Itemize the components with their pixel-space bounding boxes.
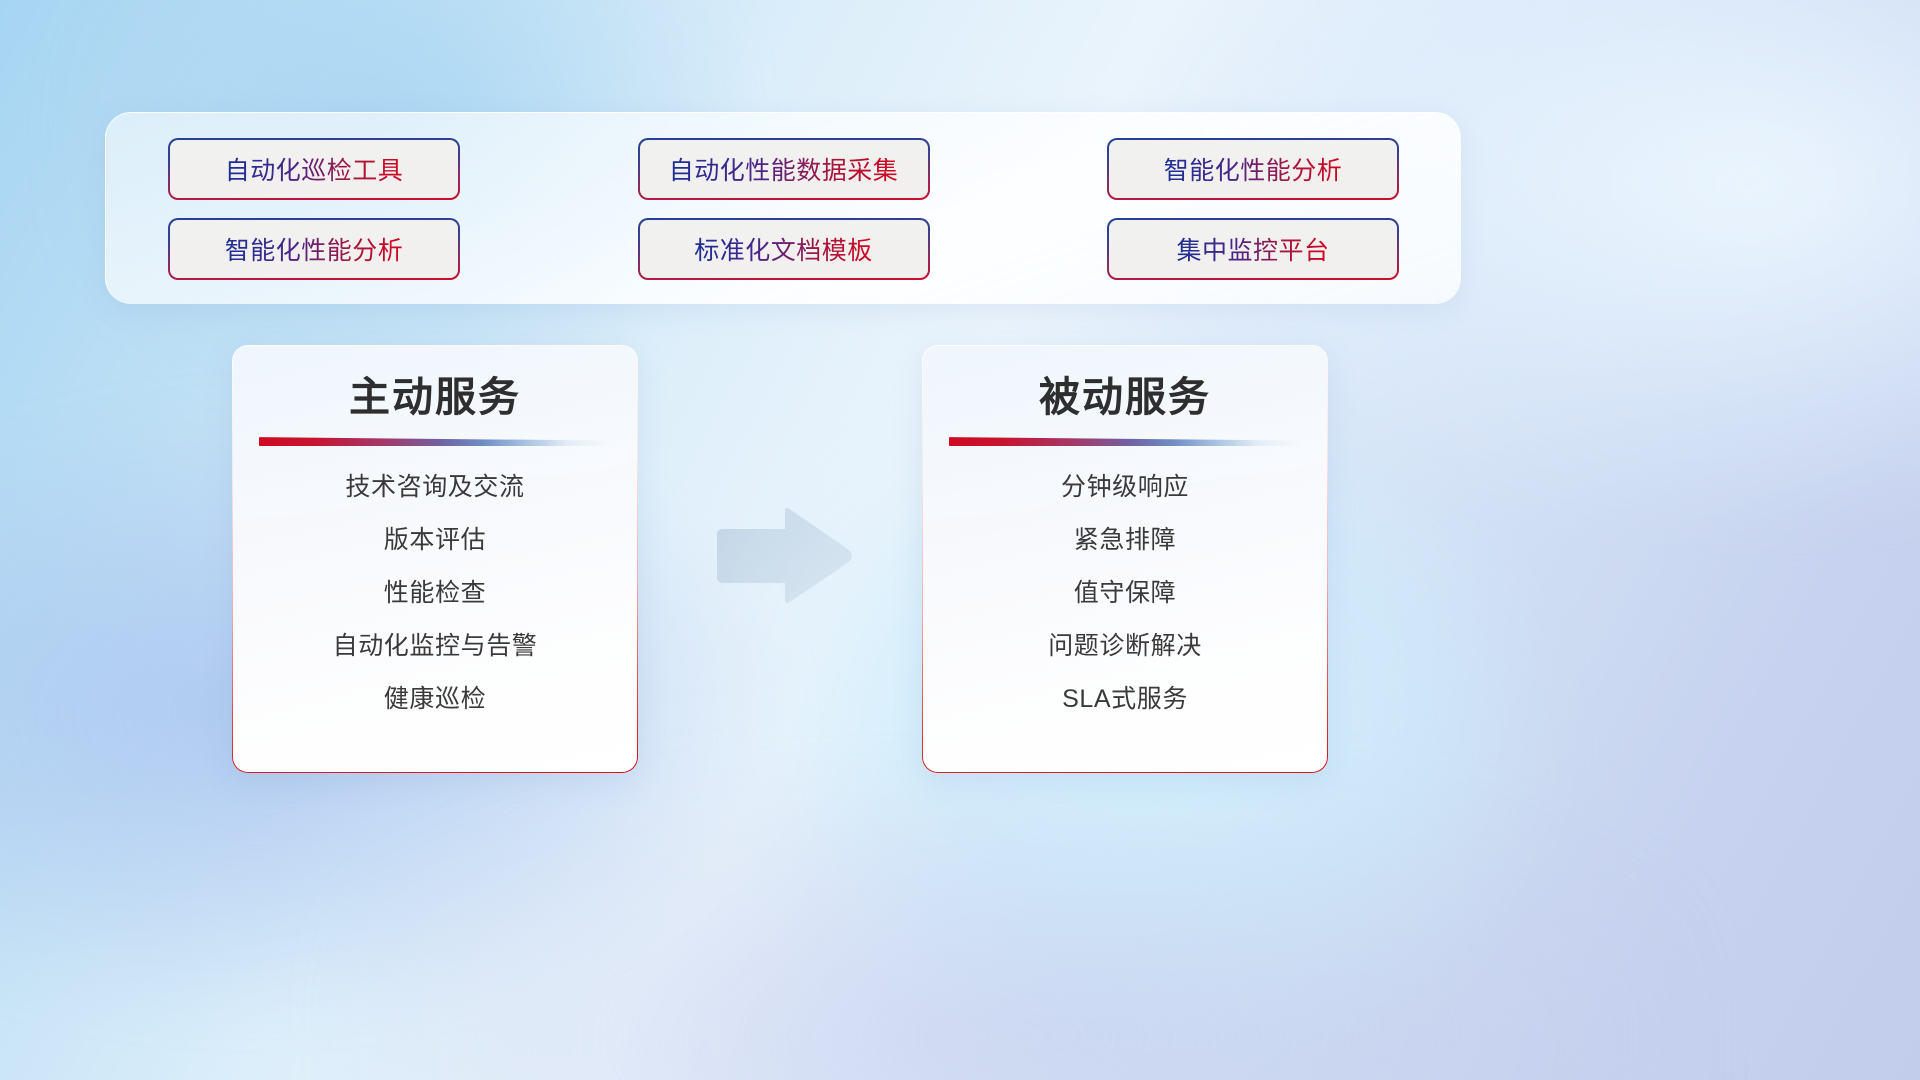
capability-pill-label: 智能化性能分析 <box>1164 151 1343 187</box>
capability-pill-label: 智能化性能分析 <box>225 231 404 267</box>
list-item[interactable]: 性能检查 <box>384 578 486 608</box>
capability-pill-label: 自动化巡检工具 <box>225 151 404 187</box>
arrow-right-icon <box>713 505 855 607</box>
divider-bar <box>949 437 1301 446</box>
service-card-passive[interactable]: 被动服务 分钟级响应 紧急排障 值守保障 问题诊断解决 SLA式服务 <box>922 345 1328 773</box>
list-item[interactable]: 问题诊断解决 <box>1048 631 1202 661</box>
capability-pill-intelligent-performance-analysis-2[interactable]: 智能化性能分析 <box>168 218 460 280</box>
list-item[interactable]: 分钟级响应 <box>1061 472 1189 502</box>
capability-pill-label: 标准化文档模板 <box>694 231 873 267</box>
list-item[interactable]: 自动化监控与告警 <box>333 631 538 661</box>
list-item[interactable]: 值守保障 <box>1074 578 1176 608</box>
list-item[interactable]: SLA式服务 <box>1062 684 1188 714</box>
list-item[interactable]: 紧急排障 <box>1074 525 1176 555</box>
capability-pill-automation-inspection-tool[interactable]: 自动化巡检工具 <box>168 138 460 200</box>
capability-pill-automated-performance-data-collection[interactable]: 自动化性能数据采集 <box>638 138 930 200</box>
capability-row-1: 自动化巡检工具 自动化性能数据采集 智能化性能分析 <box>168 138 1399 200</box>
list-item[interactable]: 技术咨询及交流 <box>345 472 524 502</box>
capability-row-2: 智能化性能分析 标准化文档模板 集中监控平台 <box>168 218 1399 280</box>
capability-pill-standardized-document-template[interactable]: 标准化文档模板 <box>638 218 930 280</box>
service-card-item-list: 分钟级响应 紧急排障 值守保障 问题诊断解决 SLA式服务 <box>923 472 1327 714</box>
service-card-active[interactable]: 主动服务 技术咨询及交流 版本评估 性能检查 自动化监控与告警 健康巡检 <box>232 345 638 773</box>
divider-bar <box>259 437 611 446</box>
capability-pill-centralized-monitoring-platform[interactable]: 集中监控平台 <box>1107 218 1399 280</box>
background-glow-bottom <box>346 778 1690 1080</box>
capability-pill-label: 集中监控平台 <box>1176 231 1329 267</box>
service-card-title: 被动服务 <box>1039 374 1211 421</box>
list-item[interactable]: 版本评估 <box>384 525 486 555</box>
service-card-title: 主动服务 <box>349 374 521 421</box>
service-card-divider <box>259 437 611 446</box>
capability-pill-label: 自动化性能数据采集 <box>669 151 899 187</box>
service-card-divider <box>949 437 1301 446</box>
capability-panel: 自动化巡检工具 自动化性能数据采集 智能化性能分析 智能化性能分析 标准化文档模… <box>105 112 1461 304</box>
capability-pill-intelligent-performance-analysis-1[interactable]: 智能化性能分析 <box>1107 138 1399 200</box>
list-item[interactable]: 健康巡检 <box>384 684 486 714</box>
service-card-item-list: 技术咨询及交流 版本评估 性能检查 自动化监控与告警 健康巡检 <box>233 472 637 714</box>
